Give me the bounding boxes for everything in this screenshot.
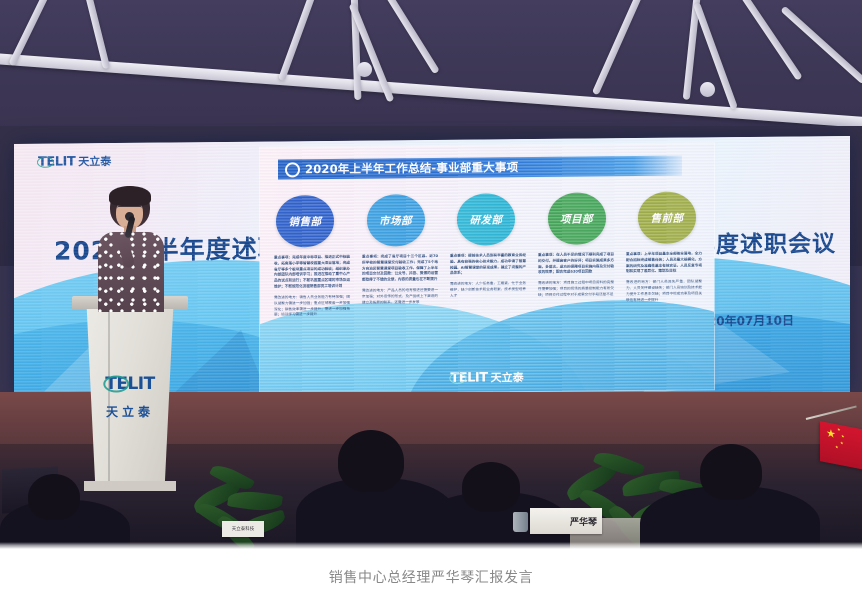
water-glass: [513, 512, 528, 532]
ceiling-strut: [693, 2, 738, 110]
flag-star-icon: ★: [835, 445, 839, 450]
table-card: 天立泰科技: [222, 521, 264, 537]
name-placard: 严华琴: [530, 508, 602, 534]
telit-wordmark: TELIT: [105, 374, 154, 394]
audience-head: [338, 430, 404, 492]
flag-star-icon: ★: [837, 427, 841, 432]
flag-star-icon: ★: [826, 427, 836, 440]
conference-photo: TELIT 天立泰 TELIT 天立泰 2020年半年度述职会议 2020年半年…: [0, 0, 862, 549]
speaker-torso: [98, 232, 164, 312]
screenshot-root: TELIT 天立泰 TELIT 天立泰 2020年半年度述职会议 2020年半年…: [0, 0, 862, 604]
speaker-person: [96, 186, 166, 312]
image-caption: 销售中心总经理严华琴汇报发言: [0, 549, 862, 604]
audience-head: [700, 444, 762, 500]
podium: TELIT 天立泰: [78, 296, 182, 496]
audience-head: [462, 462, 520, 512]
name-placard-text: 严华琴: [570, 515, 597, 528]
speaker-hair-front: [109, 186, 151, 206]
podium-base: [84, 481, 176, 491]
flag-star-icon: ★: [840, 441, 844, 446]
ceiling-truss-node: [700, 82, 715, 97]
caption-text: 销售中心总经理严华琴汇报发言: [329, 567, 533, 587]
ceiling-truss-node: [357, 62, 372, 77]
telit-chinese-name: 天立泰: [105, 403, 154, 420]
table-card-text: 天立泰科技: [232, 526, 255, 532]
ceiling-strut: [592, 0, 655, 95]
ceiling-strut: [278, 0, 329, 81]
audience-head: [28, 474, 80, 520]
flag-star-icon: ★: [841, 434, 845, 439]
podium-logo: TELIT 天立泰: [105, 374, 154, 420]
